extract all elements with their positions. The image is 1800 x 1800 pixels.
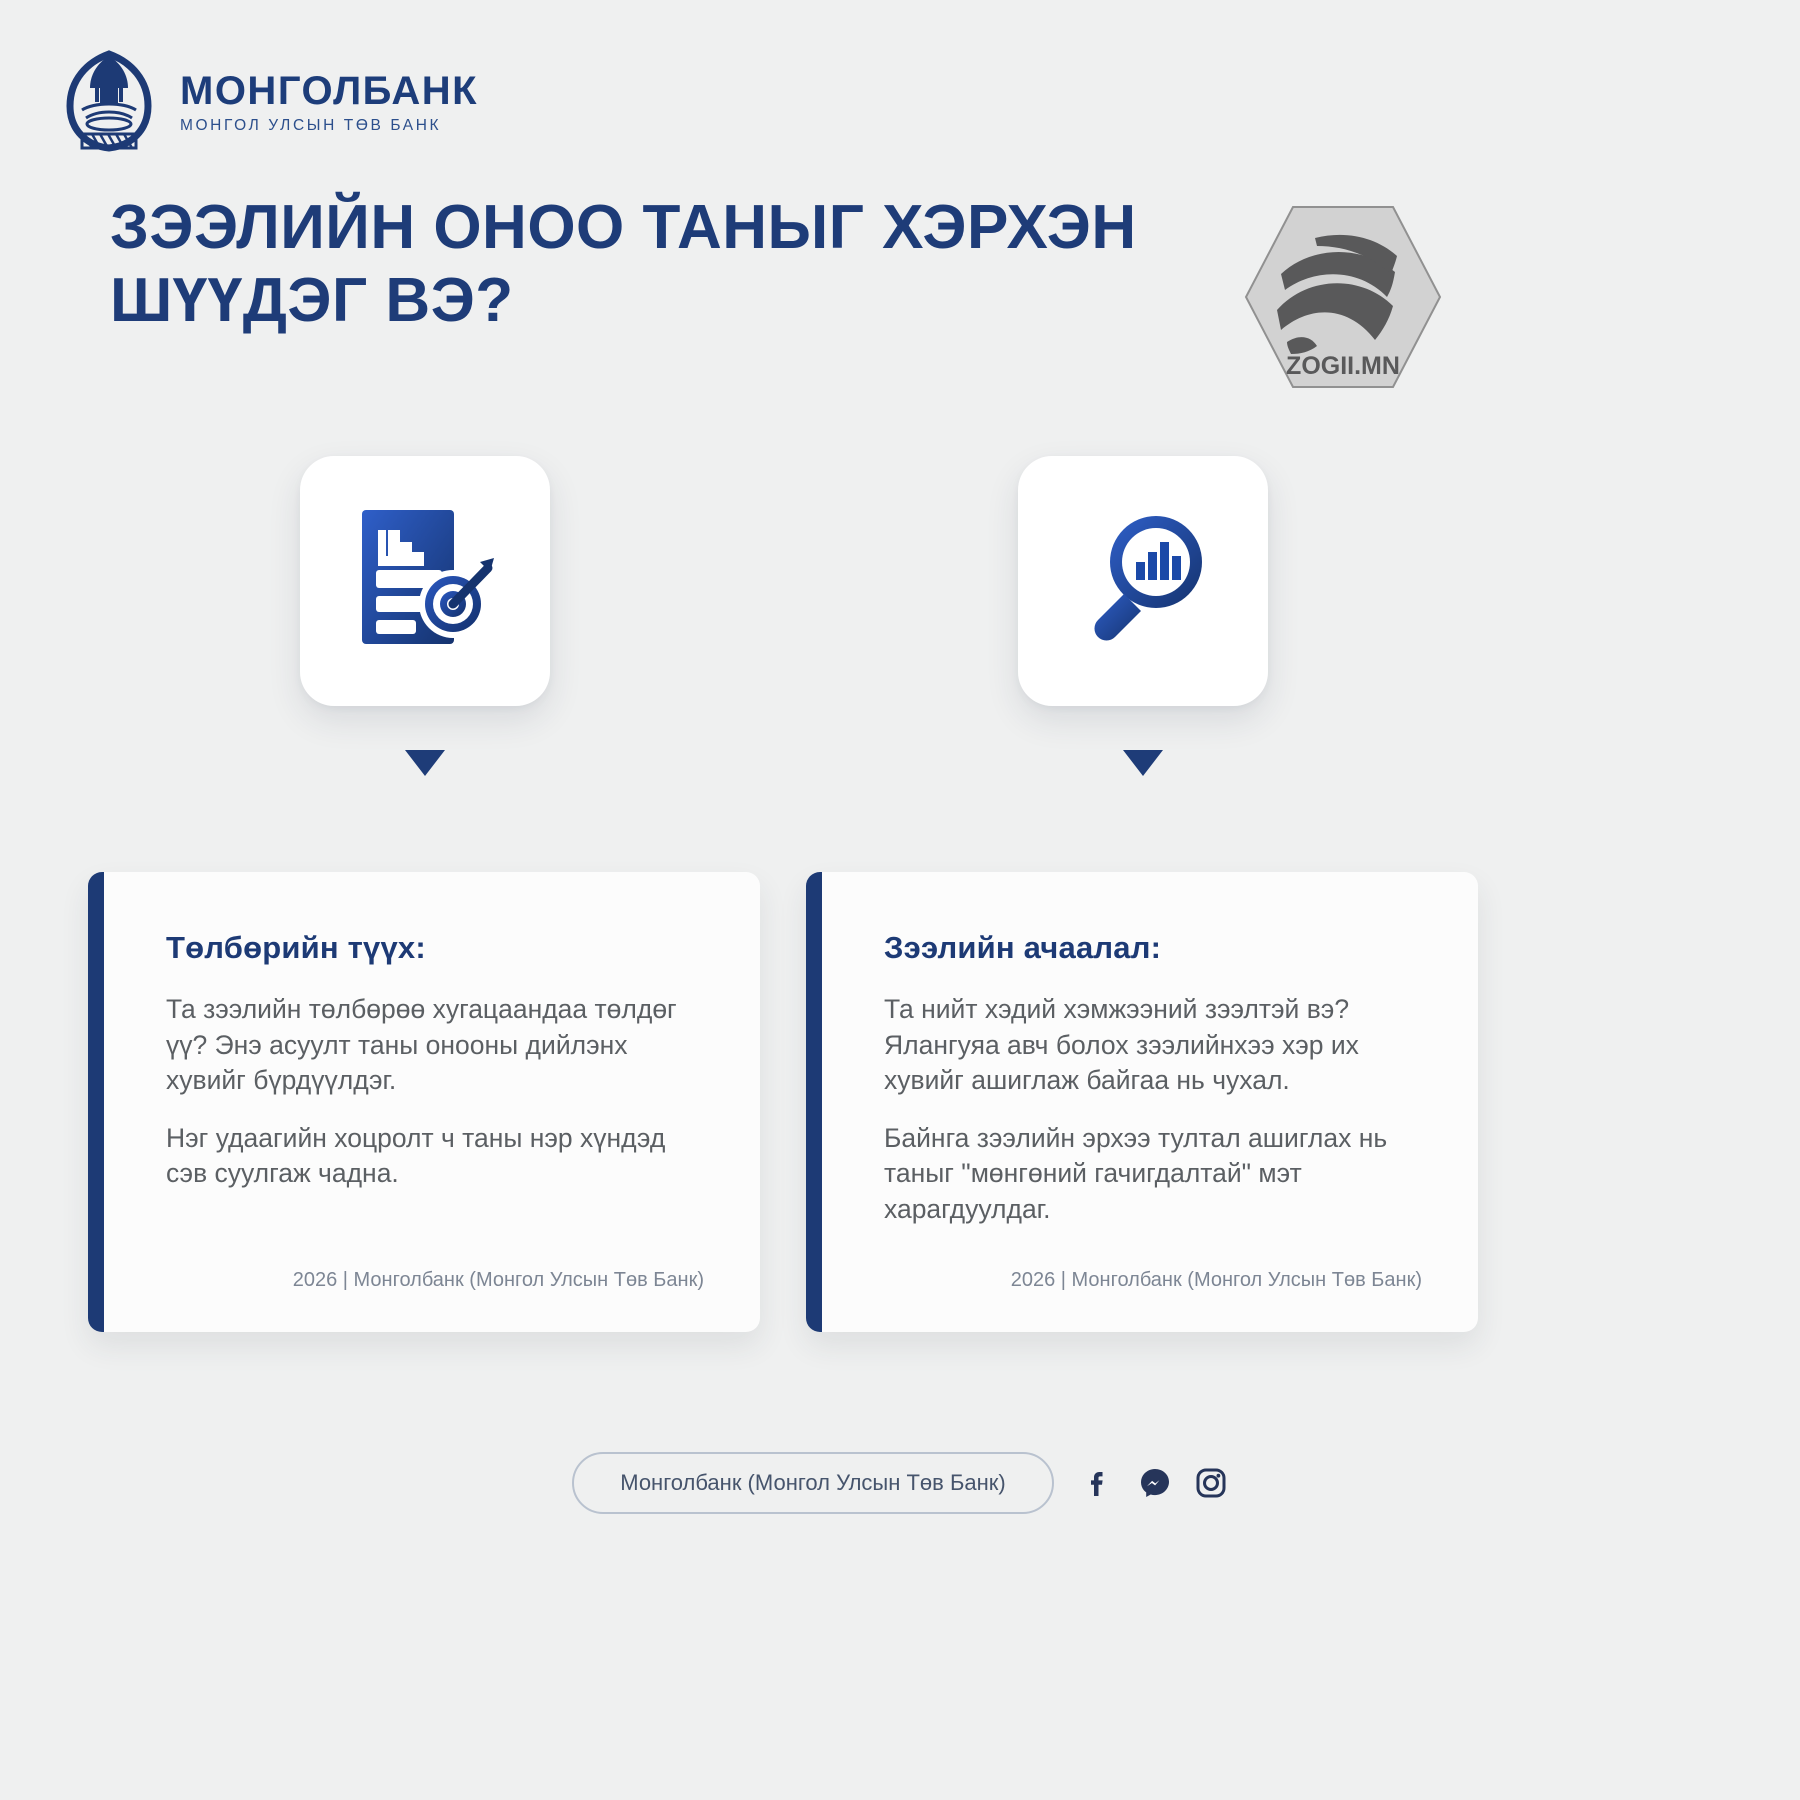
- icon-tile-payment-history: [300, 456, 550, 706]
- mongolbank-soyombo-emblem-icon: [60, 48, 158, 158]
- icon-tile-credit-utilization: [1018, 456, 1268, 706]
- brand-name: МОНГОЛБАНК: [180, 71, 478, 113]
- card-paragraph: Та нийт хэдий хэмжээний зээлтэй вэ? Ялан…: [884, 992, 1422, 1099]
- facebook-icon[interactable]: [1082, 1466, 1116, 1500]
- social-links: [1082, 1466, 1228, 1500]
- hexagon-wifi-globe-watermark-icon: ZOGII.MN: [1243, 202, 1443, 392]
- footer-brand-pill[interactable]: Монголбанк (Монгол Улсын Төв Банк): [572, 1452, 1054, 1514]
- brand-subtitle: МОНГОЛ УЛСЫН ТӨВ БАНК: [180, 117, 478, 135]
- instagram-icon[interactable]: [1194, 1466, 1228, 1500]
- card-paragraph: Та зээлийн төлбөрөө хугацаандаа төлдөг ү…: [166, 992, 704, 1099]
- info-card-payment-history: Төлбөрийн түүх: Та зээлийн төлбөрөө хуга…: [88, 872, 760, 1332]
- info-card-credit-utilization: Зээлийн ачаалал: Та нийт хэдий хэмжээний…: [806, 872, 1478, 1332]
- chevron-down-icon-right: [1123, 750, 1163, 776]
- page-title: ЗЭЭЛИЙН ОНОО ТАНЫГ ХЭРХЭН ШҮҮДЭГ ВЭ?: [110, 192, 1410, 337]
- card-credit: 2026 | Монголбанк (Монгол Улсын Төв Банк…: [884, 1269, 1422, 1292]
- messenger-icon[interactable]: [1138, 1466, 1172, 1500]
- svg-text:ZOGII.MN: ZOGII.MN: [1286, 352, 1400, 380]
- document-bar-chart-target-icon: [350, 504, 500, 659]
- card-paragraph: Байнга зээлийн эрхээ тултал ашиглах нь т…: [884, 1121, 1422, 1228]
- footer: Монголбанк (Монгол Улсын Төв Банк): [0, 1452, 1800, 1514]
- card-heading: Төлбөрийн түүх:: [166, 930, 704, 966]
- card-paragraph: Нэг удаагийн хоцролт ч таны нэр хүндэд с…: [166, 1121, 704, 1192]
- magnifier-bar-chart-icon: [1068, 504, 1218, 659]
- card-credit: 2026 | Монголбанк (Монгол Улсын Төв Банк…: [166, 1269, 704, 1292]
- card-heading: Зээлийн ачаалал:: [884, 930, 1422, 966]
- chevron-down-icon-left: [405, 750, 445, 776]
- brand-header: МОНГОЛБАНК МОНГОЛ УЛСЫН ТӨВ БАНК: [60, 48, 478, 158]
